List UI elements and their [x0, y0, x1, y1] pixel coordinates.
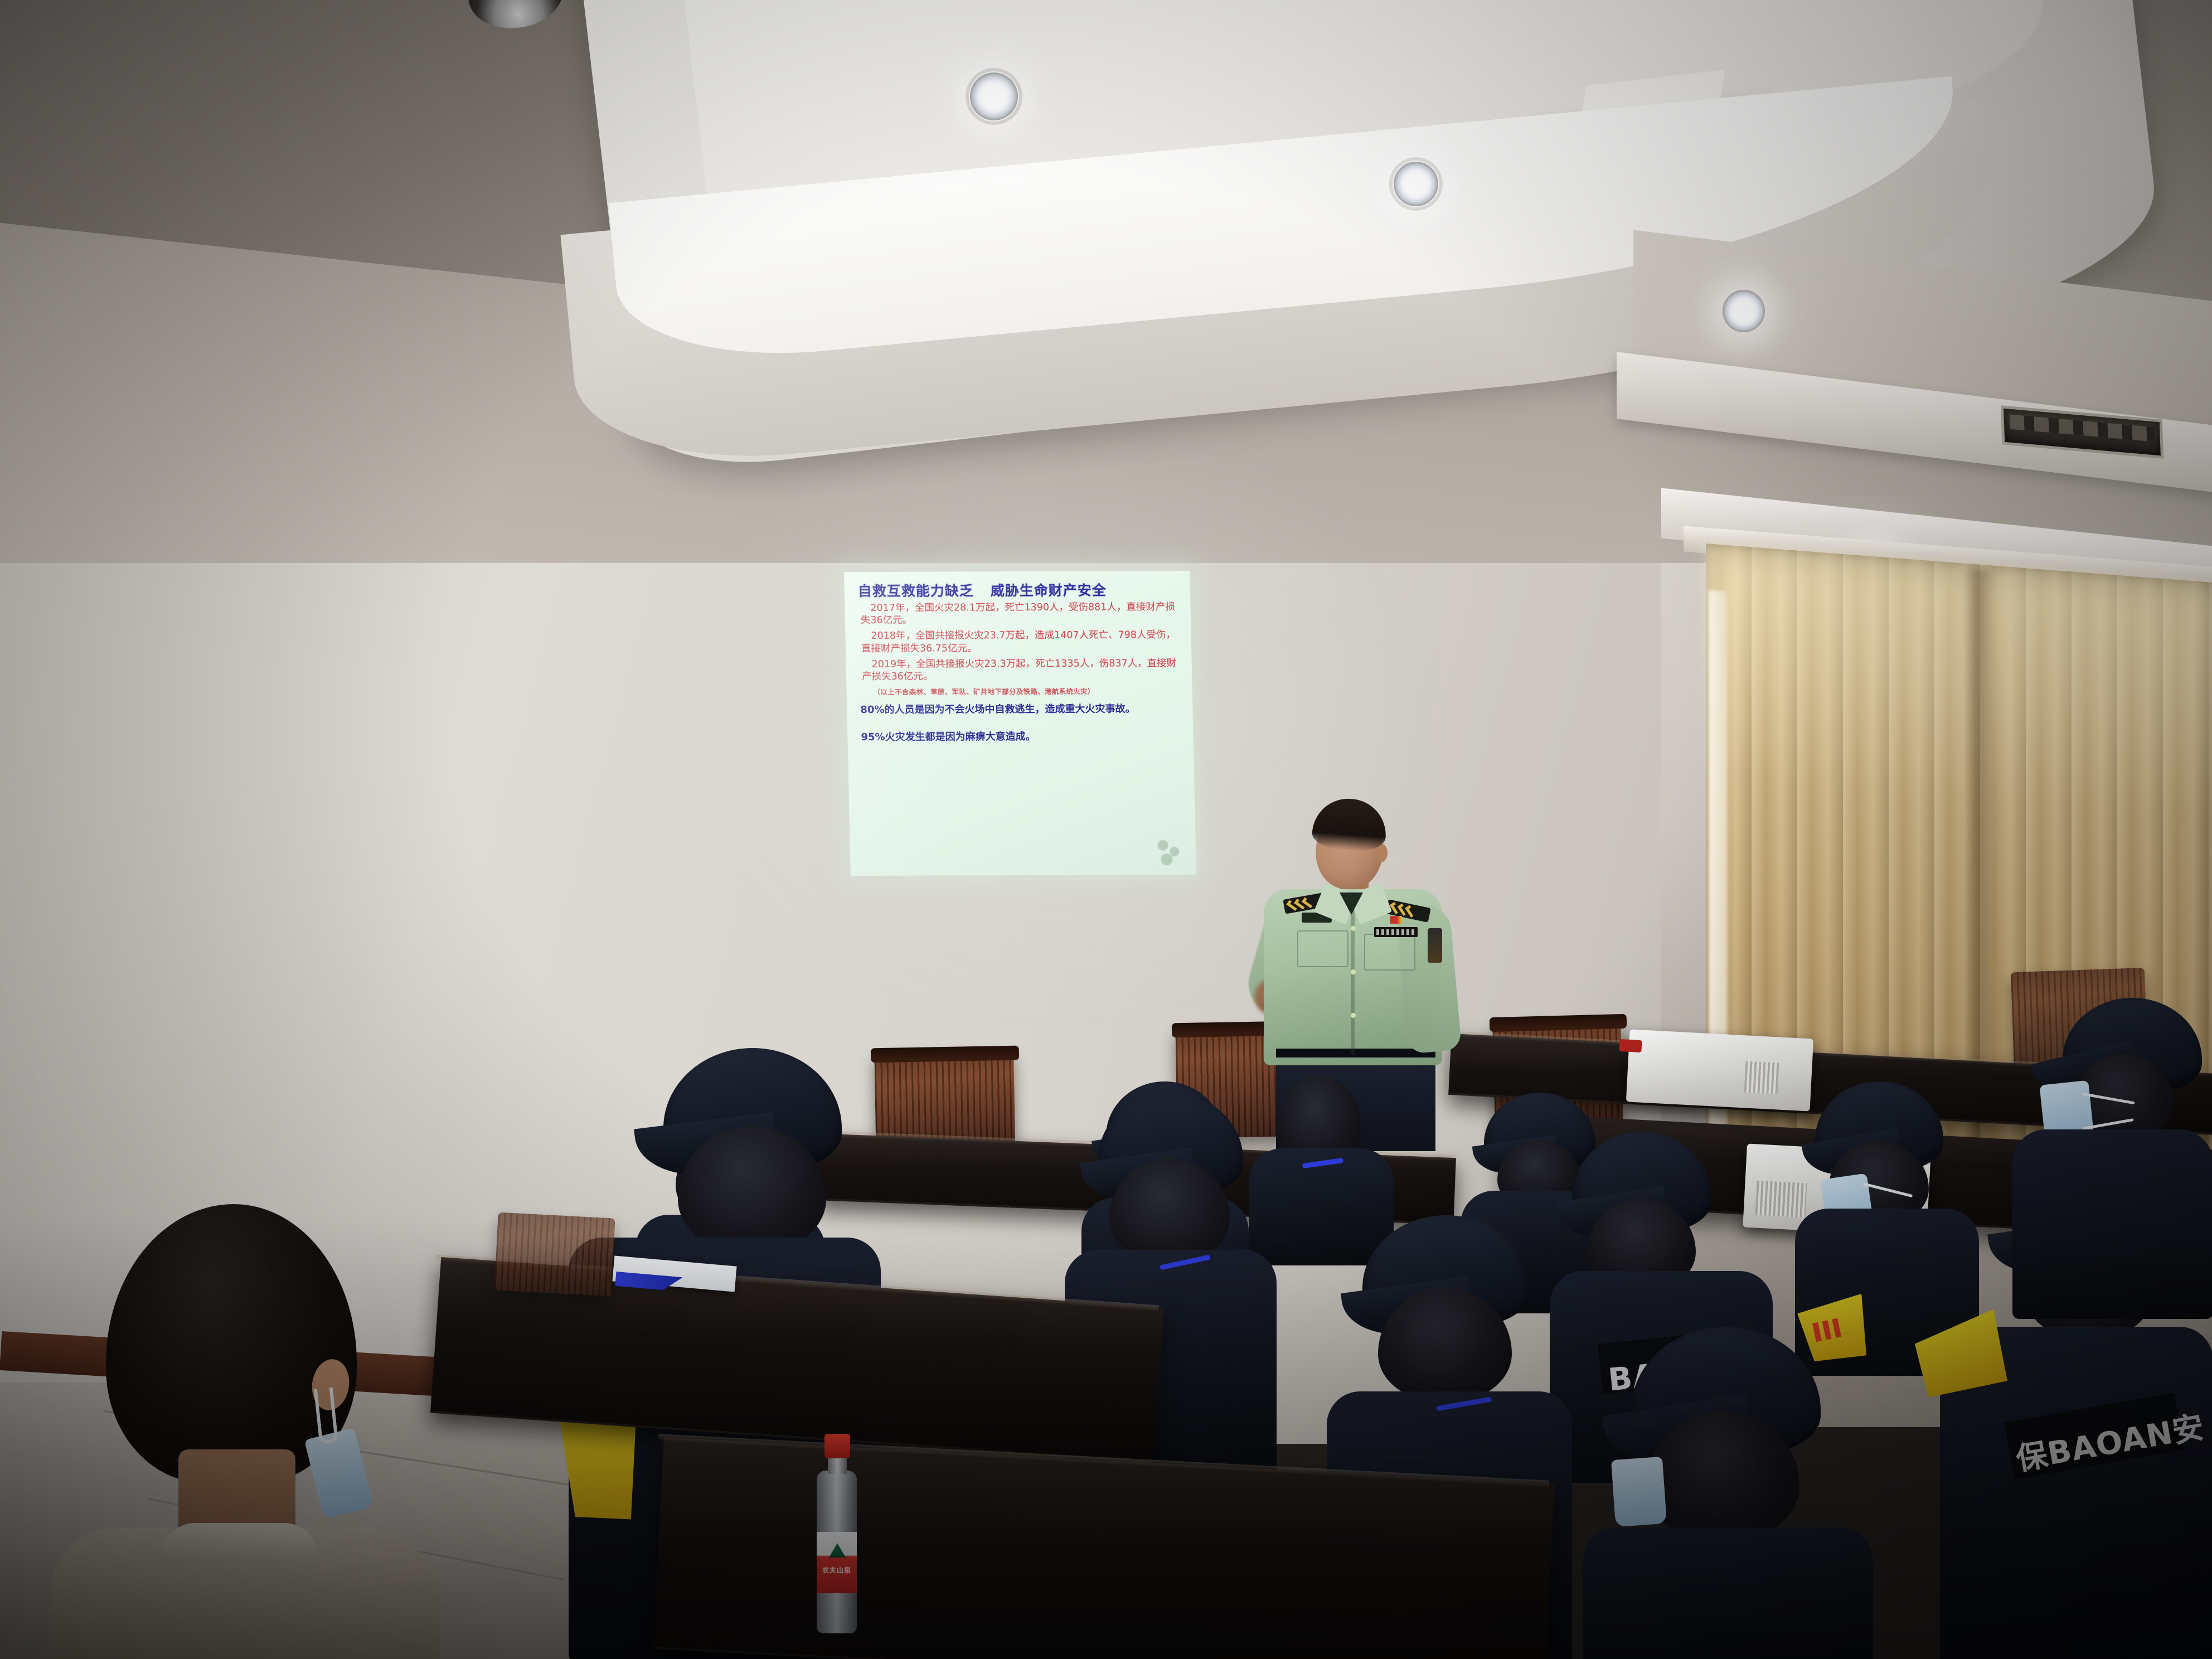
projector-vent-icon — [1744, 1061, 1779, 1094]
slide-highlight-80: 80%的人员是因为不会火场中自救逃生，造成重大火灾事故。 — [860, 703, 1184, 717]
downlight-trim-icon — [966, 68, 1022, 125]
projected-slide: 自救互救能力缺乏 威胁生命财产安全 2017年，全国火灾28.1万起，死亡139… — [844, 571, 1196, 876]
slide-highlight-95: 95%火灾发生都是因为麻痹大意造成。 — [861, 730, 1185, 744]
presenter-name-tag-text — [1376, 929, 1415, 935]
presenter-shirt-placket — [1351, 909, 1355, 1055]
slide-footnote: （以上不含森林、草原、军队、矿井地下部分及铁路、港航系统火灾） — [874, 687, 1183, 696]
bottle-label — [817, 1532, 857, 1593]
slide-watermark-logo — [1152, 837, 1188, 869]
presenter-shirt-pocket — [1364, 934, 1415, 971]
chair-top-rail — [871, 1046, 1019, 1063]
slide-paragraph-2019: 2019年，全国共接报火灾23.3万起，死亡1335人，伤837人，直接财产损失… — [861, 657, 1183, 684]
slide-title-right: 威胁生命财产安全 — [991, 584, 1107, 599]
face-mask-hanging — [304, 1428, 374, 1519]
bottle-brand-text: 农夫山泉 — [818, 1565, 856, 1575]
shirt-button — [1351, 926, 1356, 931]
slide-paragraph-2018: 2018年，全国共接报火灾23.7万起，造成1407人死亡、798人受伤，直接财… — [861, 629, 1182, 656]
audience-member — [1583, 1327, 1873, 1659]
conference-room-photo: 自救互救能力缺乏 威胁生命财产安全 2017年，全国火灾28.1万起，死亡139… — [0, 0, 2212, 1659]
torso — [2012, 1129, 2212, 1319]
curtain-backlight-glow — [1706, 544, 2212, 817]
shirt-button — [1351, 969, 1356, 974]
slide-surface: 自救互救能力缺乏 威胁生命财产安全 2017年，全国火灾28.1万起，死亡139… — [844, 571, 1196, 876]
slide-title: 自救互救能力缺乏 威胁生命财产安全 — [857, 583, 1181, 599]
torso — [1583, 1527, 1873, 1659]
collar — [162, 1523, 318, 1562]
slide-title-left: 自救互救能力缺乏 — [857, 584, 974, 599]
presenter-flag-pin-icon — [1390, 916, 1402, 924]
bottle-neck — [828, 1457, 847, 1474]
presenter-arm-patch-icon — [1428, 928, 1442, 963]
foreground-attendee — [50, 1204, 440, 1659]
presenter-hair — [1311, 797, 1388, 853]
chair[interactable] — [494, 1212, 615, 1297]
presenter-shirt-pocket — [1297, 930, 1348, 967]
presenter-belt — [1276, 1049, 1435, 1058]
water-bottle[interactable]: 农夫山泉 — [811, 1434, 862, 1634]
audience-member — [2012, 998, 2212, 1310]
bottle-cap[interactable] — [824, 1434, 850, 1458]
downlight-trim-icon — [1389, 157, 1443, 211]
slide-paragraph-2017: 2017年，全国火灾28.1万起，死亡1390人，受伤881人，直接财产损失36… — [860, 601, 1182, 628]
projector-cable-icon — [1619, 1039, 1642, 1052]
shirt-button — [1351, 1013, 1356, 1018]
ceiling-downlight-icon — [1723, 290, 1765, 332]
face-mask — [1611, 1457, 1667, 1527]
projector-rear — [1626, 1029, 1813, 1111]
